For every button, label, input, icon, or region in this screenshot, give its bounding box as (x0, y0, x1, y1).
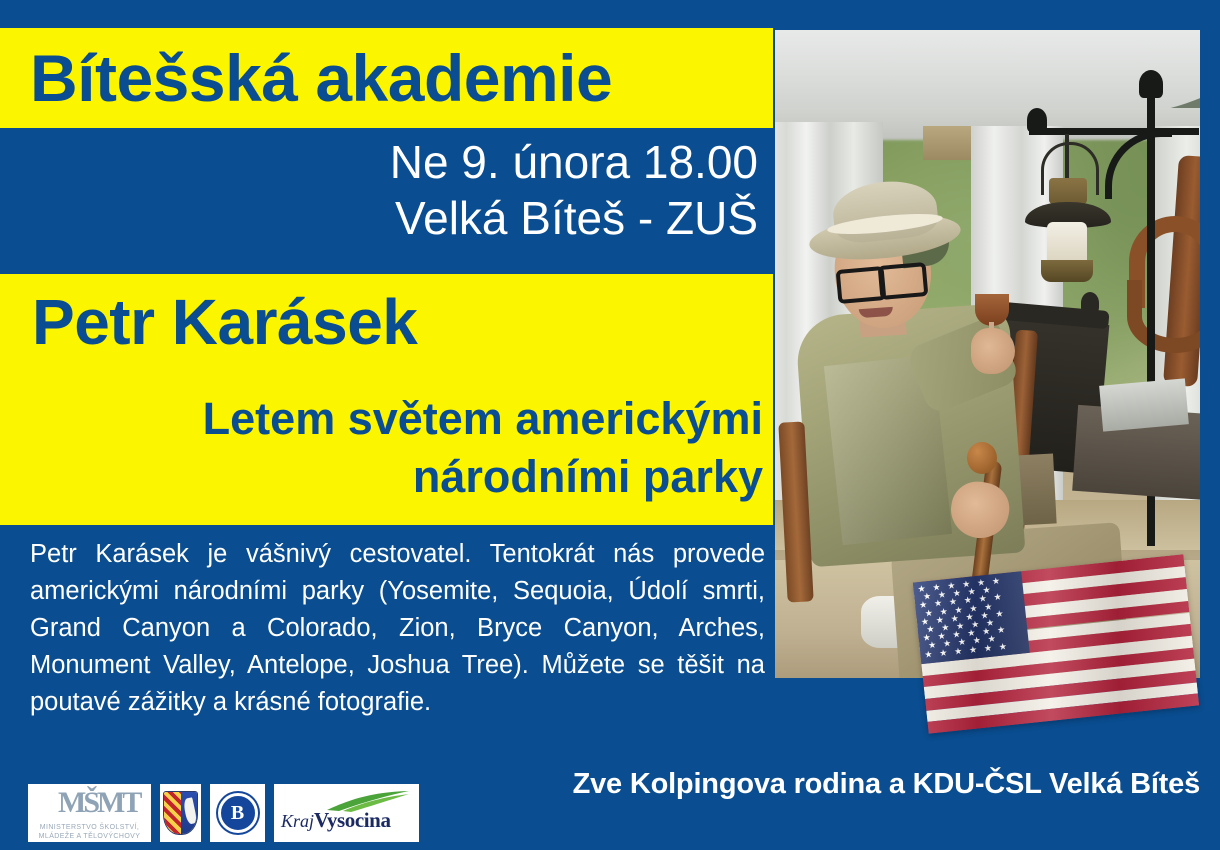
lecture-title-block: Letem světem americkými národními parky (30, 390, 763, 506)
iron-finial-top (1139, 70, 1163, 98)
msmt-monogram-icon: MŠMT (58, 786, 124, 820)
kraj-vysocina-wordmark: KrajVysocina (281, 808, 391, 833)
poster-root: ★ ★ ★ ★ ★ ★ ★ ★ ★ ★ ★ ★ ★ ★ ★ ★ ★ ★ ★ ★ … (0, 0, 1220, 850)
flag-wave-shading (913, 554, 1199, 734)
lantern-top (1049, 178, 1087, 204)
b-circle-icon: B (216, 791, 260, 835)
description-paragraph: Petr Karásek je vášnivý cestovatel. Tent… (30, 536, 765, 721)
eyeglasses-right (878, 262, 929, 300)
kv-word-vysocina: Vysocina (314, 808, 391, 832)
coat-of-arms-logo (160, 784, 201, 842)
msmt-logo: MŠMT MINISTERSTVO ŠKOLSTVÍ, MLÁDEŽE A TĚ… (28, 784, 151, 842)
event-date-time: Ne 9. února 18.00 (30, 134, 758, 190)
usa-flag-icon: ★ ★ ★ ★ ★ ★ ★ ★ ★ ★ ★ ★ ★ ★ ★ ★ ★ ★ ★ ★ … (913, 554, 1199, 734)
speaker-name: Petr Karásek (32, 282, 752, 362)
lion-icon (182, 797, 197, 825)
cane-knob (967, 442, 997, 474)
msmt-caption: MINISTERSTVO ŠKOLSTVÍ, MLÁDEŽE A TĚLOVÝC… (28, 823, 151, 841)
safari-chair-knob (1081, 292, 1099, 314)
city-b-logo: B (210, 784, 265, 842)
lecture-title-line2: národními parky (30, 448, 763, 506)
page-title: Bítešská akademie (30, 36, 750, 120)
event-venue: Velká Bíteš - ZUŠ (30, 190, 758, 246)
lecture-title-line1: Letem světem americkými (30, 390, 763, 448)
sponsor-logo-strip: MŠMT MINISTERSTVO ŠKOLSTVÍ, MLÁDEŽE A TĚ… (28, 784, 419, 842)
iron-rod-horizontal (1029, 128, 1199, 135)
iron-finial-left (1027, 108, 1047, 132)
table-item-box (1099, 378, 1189, 431)
kv-word-kraj: Kraj (281, 811, 314, 831)
msmt-caption-line1: MINISTERSTVO ŠKOLSTVÍ, (28, 823, 151, 832)
lantern-base (1041, 260, 1093, 282)
shield-lion-half (181, 792, 198, 834)
organizer-line: Zve Kolpingova rodina a KDU-ČSL Velká Bí… (470, 768, 1200, 801)
shield-checkered-half (164, 792, 181, 834)
msmt-caption-line2: MLÁDEŽE A TĚLOVÝCHOVY (28, 832, 151, 841)
shield-icon (163, 791, 198, 835)
kraj-vysocina-logo: KrajVysocina (274, 784, 419, 842)
man-hand-holding-glass (971, 328, 1015, 374)
b-letter: B (218, 793, 258, 833)
event-datetime-block: Ne 9. února 18.00 Velká Bíteš - ZUŠ (30, 134, 758, 246)
